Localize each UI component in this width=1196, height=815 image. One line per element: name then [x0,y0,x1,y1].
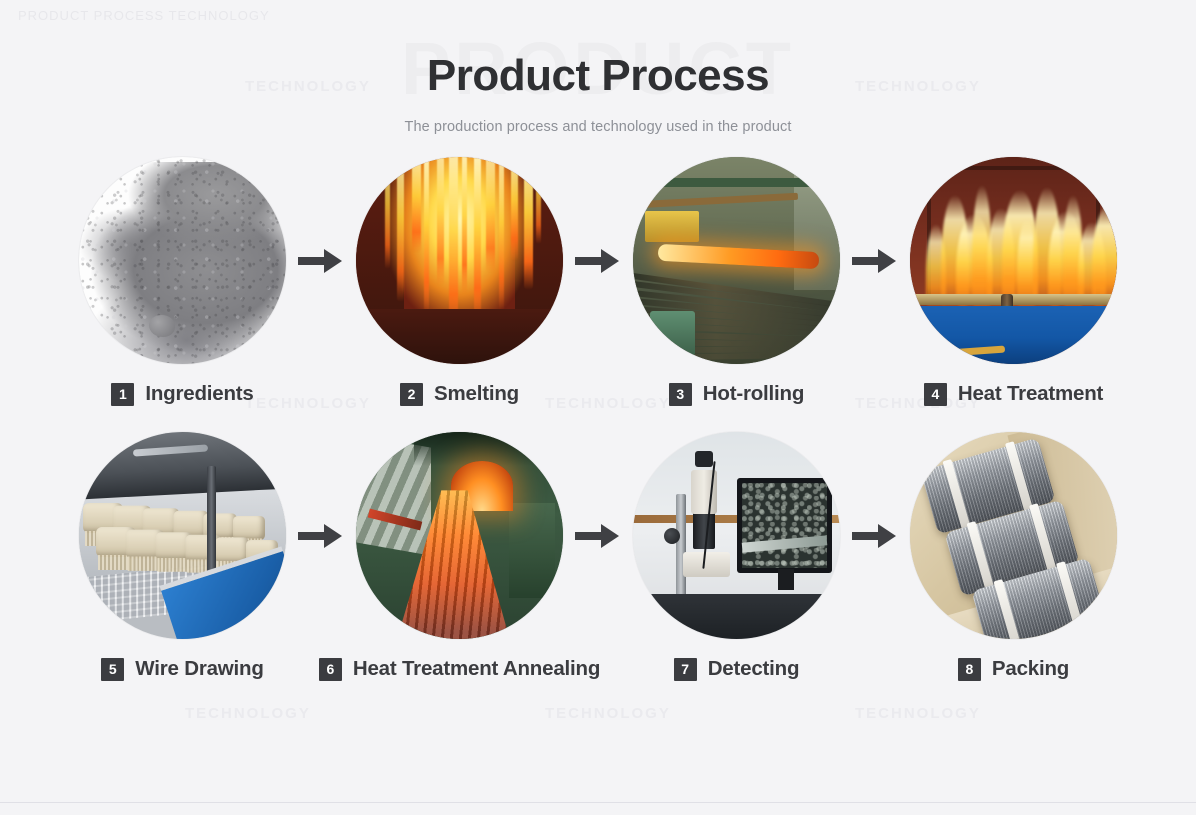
page-title: Product Process [0,52,1196,100]
step-label-smelting: 2 Smelting [400,382,519,406]
step-name: Packing [992,657,1069,681]
step-number-badge: 6 [319,658,342,681]
process-row-top: 1 Ingredients 2 Smelting [0,157,1196,406]
step-image-ingredients [79,157,286,364]
process-step-hot-rolling[interactable]: 3 Hot-rolling [629,157,844,406]
step-name: Ingredients [145,382,253,406]
watermark-tile: TECHNOLOGY [185,705,311,722]
step-number-badge: 7 [674,658,697,681]
process-step-detecting[interactable]: 7 Detecting [629,432,844,681]
step-number-badge: 4 [924,383,947,406]
arrow-right-icon [844,432,906,639]
step-number-badge: 3 [669,383,692,406]
bottom-divider [0,802,1196,803]
watermark-tile: TECHNOLOGY [545,705,671,722]
process-row-bottom: 5 Wire Drawing 6 He [0,432,1196,681]
molten-smelting-illustration [356,157,563,364]
arrow-right-icon [567,432,629,639]
process-step-packing[interactable]: 8 Packing [906,432,1121,681]
step-name: Heat Treatment [958,382,1103,406]
step-name: Wire Drawing [135,657,263,681]
process-flow: 1 Ingredients 2 Smelting [0,157,1196,681]
step-label-annealing: 6 Heat Treatment Annealing [319,657,600,681]
microscope-inspection-illustration [633,432,840,639]
step-label-detecting: 7 Detecting [674,657,800,681]
step-name: Hot-rolling [703,382,804,406]
step-image-packing [910,432,1117,639]
step-label-wire-drawing: 5 Wire Drawing [101,657,263,681]
page-header: Product Process The production process a… [0,0,1196,135]
heat-treatment-furnace-illustration [910,157,1117,364]
step-image-smelting [356,157,563,364]
watermark-tile: TECHNOLOGY [855,705,981,722]
step-image-annealing [356,432,563,639]
step-label-heat-treatment: 4 Heat Treatment [924,382,1103,406]
packed-spools-illustration [910,432,1117,639]
process-step-ingredients[interactable]: 1 Ingredients [75,157,290,406]
step-label-packing: 8 Packing [958,657,1069,681]
metal-powder-illustration [79,157,286,364]
arrow-right-icon [290,157,352,364]
step-name: Heat Treatment Annealing [353,657,600,681]
step-image-hot-rolling [633,157,840,364]
arrow-right-icon [844,157,906,364]
wire-drawing-machine-illustration [79,432,286,639]
annealing-line-illustration [356,432,563,639]
step-image-detecting [633,432,840,639]
arrow-right-icon [567,157,629,364]
step-number-badge: 2 [400,383,423,406]
process-step-heat-treatment[interactable]: 4 Heat Treatment [906,157,1121,406]
process-step-smelting[interactable]: 2 Smelting [352,157,567,406]
step-name: Detecting [708,657,800,681]
step-number-badge: 8 [958,658,981,681]
step-number-badge: 5 [101,658,124,681]
arrow-right-icon [290,432,352,639]
process-step-wire-drawing[interactable]: 5 Wire Drawing [75,432,290,681]
step-image-wire-drawing [79,432,286,639]
step-label-hot-rolling: 3 Hot-rolling [669,382,804,406]
hot-rolling-mill-illustration [633,157,840,364]
step-label-ingredients: 1 Ingredients [111,382,253,406]
step-number-badge: 1 [111,383,134,406]
step-image-heat-treatment [910,157,1117,364]
process-step-annealing[interactable]: 6 Heat Treatment Annealing [352,432,567,681]
page-subtitle: The production process and technology us… [0,119,1196,135]
step-name: Smelting [434,382,519,406]
